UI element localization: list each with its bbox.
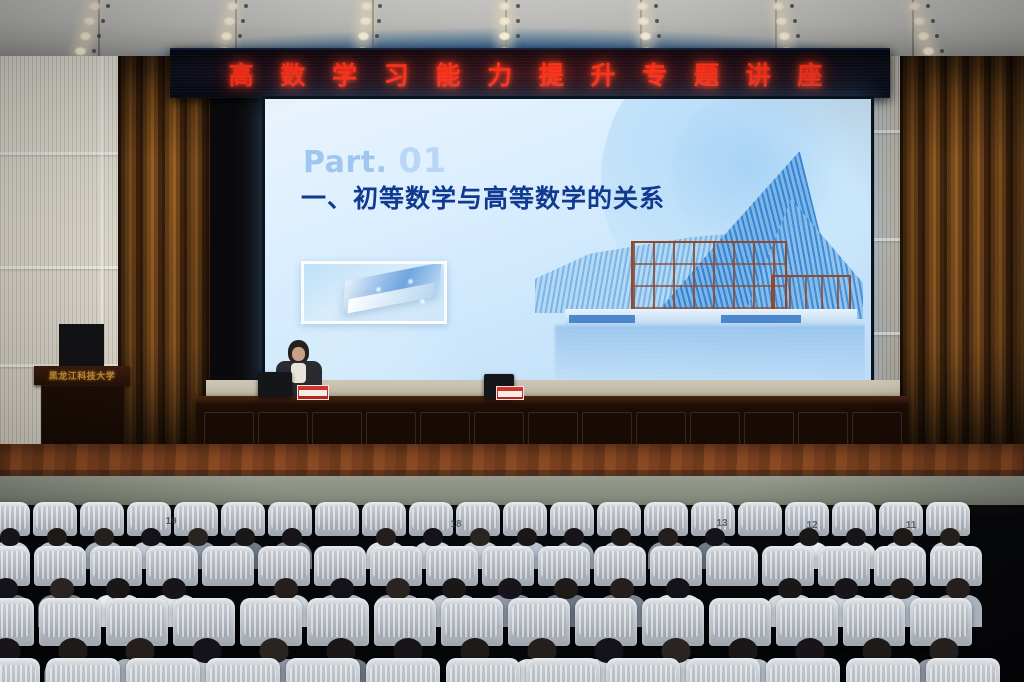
ceiling-fixture-dot [244,4,248,8]
audience-head [940,528,960,546]
ceiling-fixture-dot [796,34,800,38]
audience-head [0,528,20,546]
audience-seat[interactable] [846,658,920,682]
audience-seat[interactable] [606,658,680,682]
ceiling-fixture-dot [516,34,520,38]
audience-head [470,528,490,546]
slide-part-label: Part. 01 [303,141,447,181]
ceiling-downlight [226,2,239,11]
ceiling-downlight [636,2,649,11]
audience-head [498,578,522,599]
audience-head [666,578,690,599]
podium-institution-name: 黑龙江科技大学 [42,369,122,382]
ceiling-fixture-dot [375,34,379,38]
ceiling-fixture-dot [97,34,101,38]
led-banner: 高 数 学 习 能 力 提 升 专 题 讲 座 [170,48,890,98]
audience-seat[interactable] [366,658,440,682]
audience-seat[interactable] [686,658,760,682]
audience-head [0,578,18,599]
audience-seating: 191813121118141417 [0,470,1024,682]
audience-seat[interactable] [315,502,359,536]
audience-head [946,578,970,599]
audience-head [386,578,410,599]
seat-number: 19 [165,516,176,527]
ceiling-fixture-dot [926,4,930,8]
ceiling-fixture-dot [377,19,381,23]
ceiling-downlight [83,17,96,26]
seat-number: 11 [906,520,917,531]
ceiling-fixture-dot [931,19,935,23]
ceiling-downlight [637,17,650,26]
audience-seat[interactable] [46,658,120,682]
ceiling-downlight [775,17,788,26]
ceiling-fixture-dot [101,19,105,23]
audience-seat[interactable] [526,658,600,682]
projection-screen-frame: Part. 01 一、初等数学与高等数学的关系 [262,96,874,394]
audience-head [188,528,208,546]
audience-head [658,528,678,546]
audience-seat[interactable] [926,658,1000,682]
audience-head [106,578,130,599]
ceiling-fixture-dot [935,34,939,38]
ceiling-fixture-dot [238,34,242,38]
ceiling-fixture-dot [655,19,659,23]
audience-head [235,528,255,546]
audience-head [834,578,858,599]
podium-top: 黑龙江科技大学 [34,366,130,385]
audience-head [890,578,914,599]
ceiling-fixture-dot [790,4,794,8]
audience-head [423,528,443,546]
ceiling-fixture-dot [106,4,110,8]
ceiling-downlight [498,2,511,11]
ceiling-fixture-dot [378,4,382,8]
ceiling-downlight [772,2,785,11]
audience-head [282,528,302,546]
audience-seat[interactable] [706,546,758,586]
audience-seat[interactable] [126,658,200,682]
audience-head [274,578,298,599]
audience-head [554,578,578,599]
ceiling-downlight [88,2,101,11]
audience-head [442,578,466,599]
audience-head [94,528,114,546]
campus-building-illustration [535,151,865,391]
name-card-left [297,385,329,400]
seat-number: 18 [450,519,461,530]
slide-part-prefix: Part. [303,145,387,180]
audience-head [610,578,634,599]
audience-head [162,578,186,599]
audience-seat[interactable] [286,658,360,682]
ceiling-fixture-dot [657,34,661,38]
name-card-right [496,386,524,400]
seat-number: 13 [716,518,727,529]
audience-head [50,578,74,599]
audience-seat[interactable] [738,502,782,536]
seat-number: 12 [806,520,817,531]
curtain-right [900,56,1024,466]
presenter-shirt [291,363,306,383]
building-frame-structure [631,241,787,311]
ceiling-fixture-dot [654,4,658,8]
ceiling-downlight [917,32,930,41]
ceiling-downlight [498,17,511,26]
ceiling-downlight [498,32,511,41]
led-banner-text: 高 数 学 习 能 力 提 升 专 题 讲 座 [229,56,832,92]
ceiling-downlight [360,2,373,11]
ceiling-fixture-dot [516,4,520,8]
audience-head [141,528,161,546]
slide-part-number: 01 [398,141,446,181]
ceiling-downlight [357,32,370,41]
projection-screen: Part. 01 一、初等数学与高等数学的关系 [265,99,871,391]
photo-thumbnail-books [301,261,447,324]
audience-head [611,528,631,546]
audience-seat[interactable] [206,658,280,682]
ceiling-downlight [639,32,652,41]
laptop-left [258,372,292,397]
podium-backdrop [59,324,104,372]
audience-head [47,528,67,546]
ceiling-fixture-dot [793,19,797,23]
ceiling-downlight [908,2,921,11]
ceiling-fixture-dot [241,19,245,23]
ceiling-fixture-dot [516,19,520,23]
audience-head [330,578,354,599]
audience-head [564,528,584,546]
audience-head [778,578,802,599]
lecture-hall-photo: 高 数 学 习 能 力 提 升 专 题 讲 座 Part. 01 一、初等数学与… [0,0,1024,682]
ceiling-downlight [220,32,233,41]
audience-head [517,528,537,546]
audience-head [846,528,866,546]
audience-seat[interactable] [446,658,520,682]
audience-head [705,528,725,546]
ceiling-downlight [359,17,372,26]
building-frame-structure-right [771,275,851,311]
ceiling-downlight [778,32,791,41]
ceiling-downlight [79,32,92,41]
ceiling-downlight [913,17,926,26]
presenter-face [292,347,305,361]
audience-head [376,528,396,546]
audience-seat[interactable] [766,658,840,682]
audience-seat[interactable] [0,658,40,682]
audience-seat[interactable] [202,546,254,586]
